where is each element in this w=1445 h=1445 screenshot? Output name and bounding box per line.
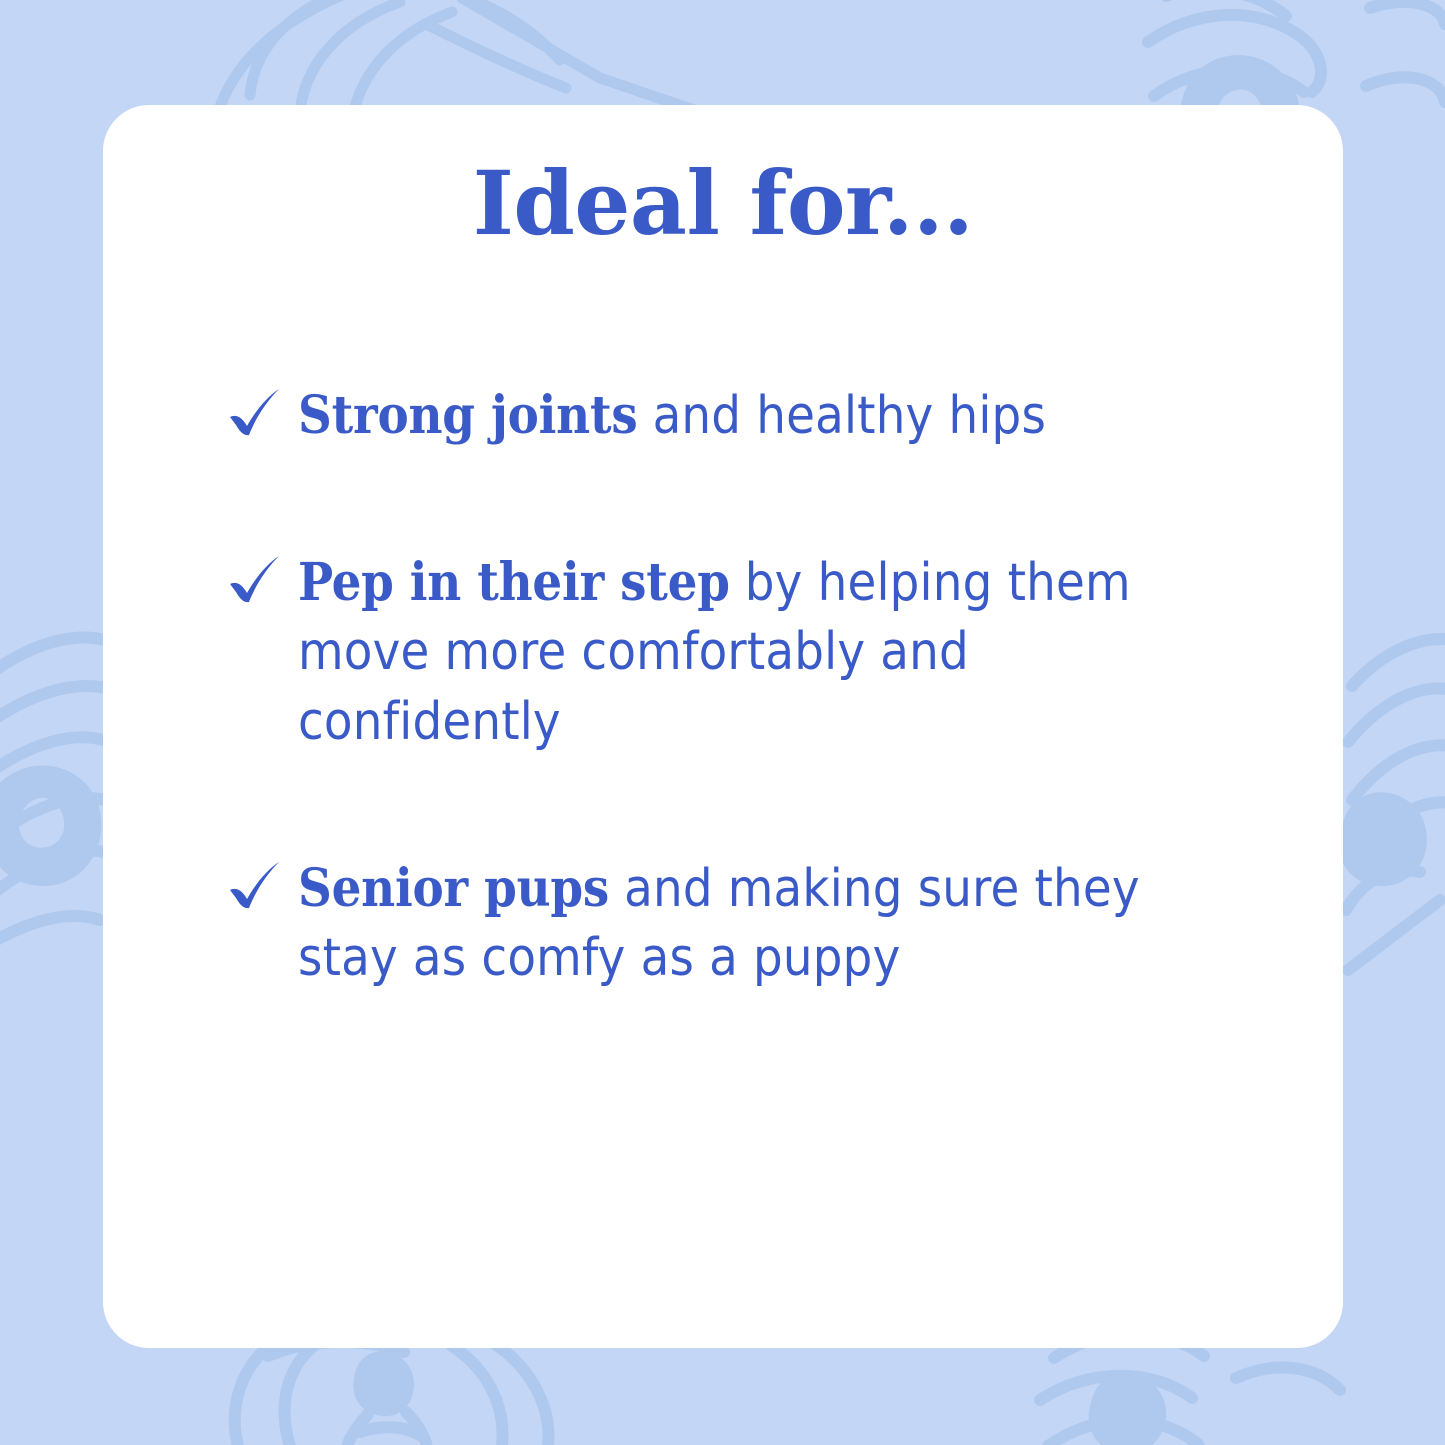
list-item-text: Pep in their step by helping them move m…	[298, 548, 1236, 758]
pet-bed-right-icon	[1339, 639, 1445, 970]
page-title: Ideal for...	[103, 157, 1343, 249]
check-icon	[226, 554, 298, 612]
list-item: Strong joints and healthy hips	[226, 381, 1236, 452]
check-icon	[226, 860, 298, 918]
list-item-lead: Pep in their step	[298, 552, 730, 613]
list-item-text: Senior pups and making sure they stay as…	[298, 854, 1236, 994]
pet-bed-left-icon	[0, 638, 112, 969]
list-item-lead: Strong joints	[298, 385, 638, 446]
content-card: Ideal for... Strong joints and healthy h…	[103, 105, 1343, 1348]
list-item: Senior pups and making sure they stay as…	[226, 854, 1236, 994]
list-item-rest: and healthy hips	[638, 386, 1047, 446]
check-icon	[226, 387, 298, 445]
list-item-text: Strong joints and healthy hips	[298, 381, 1236, 452]
paw-print-bottom-right-icon	[1040, 1334, 1340, 1445]
list-item: Pep in their step by helping them move m…	[226, 548, 1236, 758]
promo-card-canvas: Ideal for... Strong joints and healthy h…	[0, 0, 1445, 1445]
list-item-lead: Senior pups	[298, 858, 609, 919]
benefits-list: Strong joints and healthy hips Pep in th…	[226, 381, 1236, 994]
